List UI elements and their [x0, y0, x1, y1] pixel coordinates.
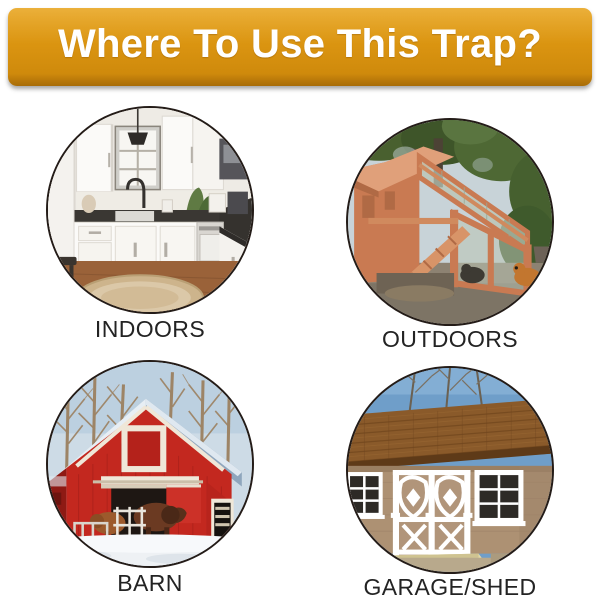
location-grid: INDOORS	[0, 104, 600, 600]
caption-indoors: INDOORS	[0, 316, 300, 343]
red-barn-winter-photo	[46, 360, 254, 568]
header-banner: Where To Use This Trap?	[8, 8, 592, 86]
tan-garage-shed-photo	[346, 366, 554, 574]
caption-outdoors: OUTDOORS	[300, 326, 600, 353]
banner-plate: Where To Use This Trap?	[8, 8, 592, 86]
caption-barn: BARN	[0, 570, 300, 597]
location-card-garage-shed[interactable]: GARAGE/SHED	[300, 352, 600, 600]
outdoor-wooden-chicken-coop-photo	[346, 118, 554, 326]
location-card-barn[interactable]: BARN	[0, 352, 300, 600]
page-title: Where To Use This Trap?	[8, 8, 592, 86]
kitchen-interior-photo	[46, 106, 254, 314]
location-card-outdoors[interactable]: OUTDOORS	[300, 104, 600, 352]
caption-garage-shed: GARAGE/SHED	[300, 574, 600, 601]
location-card-indoors[interactable]: INDOORS	[0, 104, 300, 352]
